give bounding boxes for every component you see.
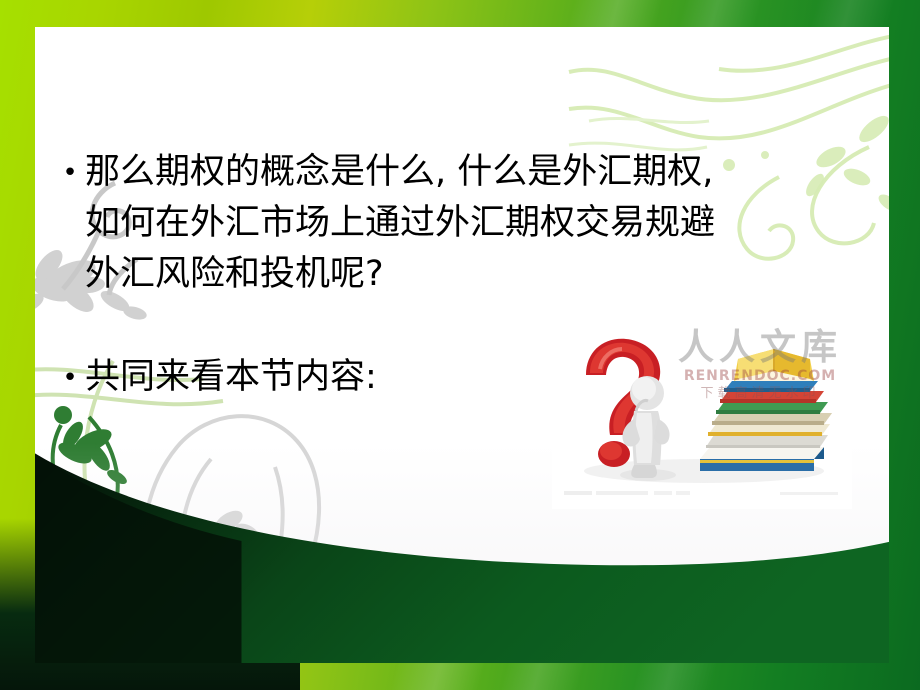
bullet-item-1: • 那么期权的概念是什么, 什么是外汇期权, 如何在外汇市场上通过外汇期权交易规… — [55, 147, 859, 300]
bullet-marker-icon: • — [55, 352, 85, 404]
slide: 人人文库 RENRENDOC.COM 下载高清无水印 • 那么期权的概念是什么,… — [0, 0, 920, 690]
bullet-text-1: 那么期权的概念是什么, 什么是外汇期权, 如何在外汇市场上通过外汇期权交易规避 … — [85, 147, 859, 300]
slide-content-card: 人人文库 RENRENDOC.COM 下载高清无水印 • 那么期权的概念是什么,… — [35, 27, 889, 663]
swirl-decoration-bottom-grey — [125, 403, 385, 623]
bullet-text-2: 共同来看本节内容: — [85, 352, 859, 403]
bullet-marker-icon: • — [55, 147, 85, 199]
bullet-item-2: • 共同来看本节内容: — [55, 352, 859, 404]
slide-body-text: • 那么期权的概念是什么, 什么是外汇期权, 如何在外汇市场上通过外汇期权交易规… — [55, 147, 859, 408]
